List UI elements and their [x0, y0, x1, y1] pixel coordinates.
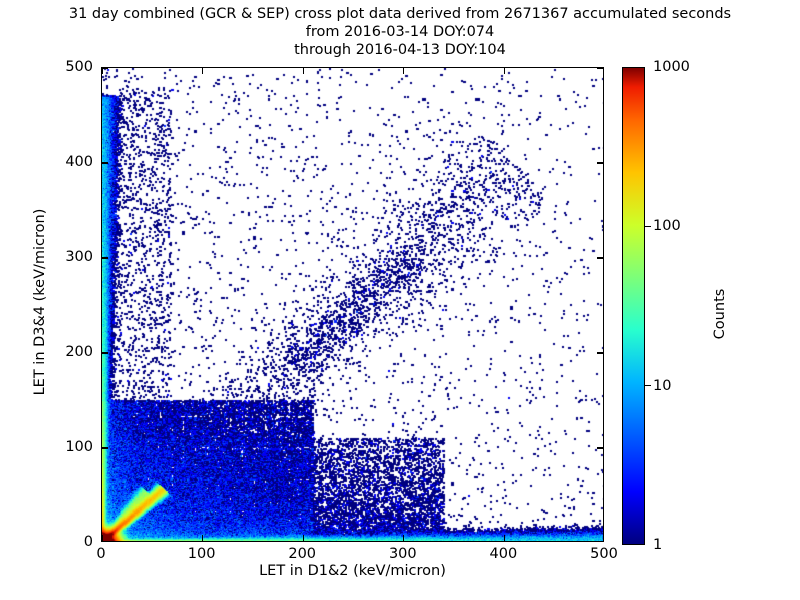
y-tick-label-0: 0: [41, 534, 93, 550]
x-tick-label-500: 500: [590, 546, 618, 562]
y-tick-label-500: 500: [41, 59, 93, 75]
x-tick-0: [101, 535, 102, 541]
x-tick-label-200: 200: [288, 546, 316, 562]
y-tick-right-100: [597, 447, 603, 448]
colorbar-tick-label-1: 1: [653, 537, 662, 553]
colorbar-tick-label-100: 100: [653, 218, 681, 234]
x-tick-400: [504, 535, 505, 541]
y-axis-label: LET in D3&4 (keV/micron): [32, 202, 48, 402]
y-tick-100: [102, 447, 108, 448]
x-tick-top-100: [202, 68, 203, 74]
title-line-2: from 2016-03-14 DOY:074: [0, 23, 800, 41]
y-tick-label-400: 400: [41, 154, 93, 170]
y-tick-400: [102, 162, 108, 163]
colorbar-tick-label-10: 10: [653, 378, 671, 394]
x-tick-top-200: [303, 68, 304, 74]
y-tick-500: [102, 67, 108, 68]
x-tick-100: [202, 535, 203, 541]
plot-title: 31 day combined (GCR & SEP) cross plot d…: [0, 5, 800, 59]
density-scatter-plot: [102, 68, 604, 542]
x-tick-label-0: 0: [96, 546, 105, 562]
plot-axes-area: [101, 67, 604, 542]
y-tick-right-200: [597, 352, 603, 353]
figure-canvas: 31 day combined (GCR & SEP) cross plot d…: [0, 0, 800, 600]
colorbar-tick-label-1000: 1000: [653, 59, 690, 75]
colorbar-label: Counts: [712, 234, 728, 394]
y-tick-right-300: [597, 257, 603, 258]
x-tick-label-100: 100: [188, 546, 216, 562]
colorbar-tick-100: [645, 226, 651, 227]
x-tick-top-0: [101, 68, 102, 74]
x-tick-top-400: [504, 68, 505, 74]
x-tick-200: [303, 535, 304, 541]
colorbar-gradient: [622, 67, 645, 545]
x-tick-label-400: 400: [490, 546, 518, 562]
y-tick-right-400: [597, 162, 603, 163]
y-tick-label-100: 100: [41, 439, 93, 455]
x-tick-label-300: 300: [389, 546, 417, 562]
y-tick-label-200: 200: [41, 344, 93, 360]
title-line-3: through 2016-04-13 DOY:104: [0, 41, 800, 59]
y-tick-200: [102, 352, 108, 353]
colorbar-tick-10: [645, 385, 651, 386]
x-axis-label: LET in D1&2 (keV/micron): [101, 563, 604, 579]
y-tick-300: [102, 257, 108, 258]
colorbar: 1101001000: [622, 67, 645, 545]
y-tick-label-300: 300: [41, 249, 93, 265]
x-tick-top-300: [403, 68, 404, 74]
x-tick-300: [403, 535, 404, 541]
title-line-1: 31 day combined (GCR & SEP) cross plot d…: [0, 5, 800, 23]
y-tick-right-500: [597, 67, 603, 68]
